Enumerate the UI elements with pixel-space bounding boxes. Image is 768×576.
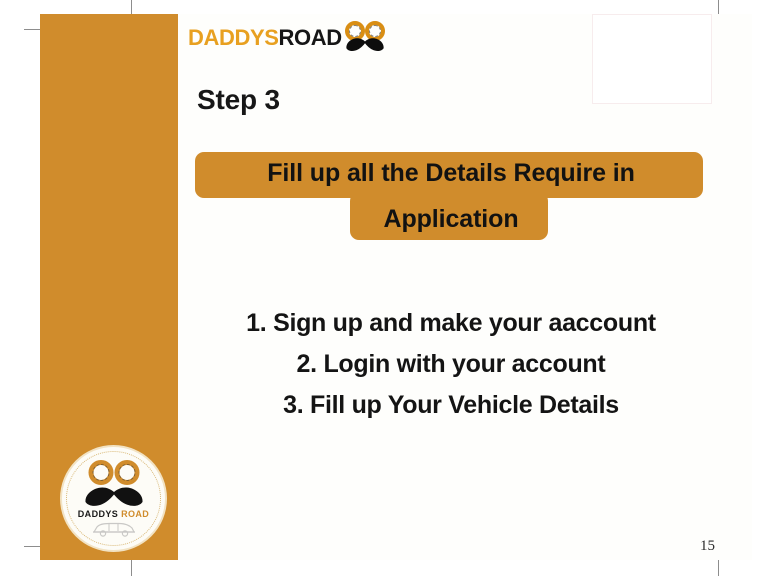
crop-mark-bottom-left-horizontal — [24, 546, 40, 547]
badge-double-ring-icon — [88, 460, 139, 485]
crop-mark-bottom-right-vertical — [718, 560, 719, 576]
header-wordmark: DADDYSROAD — [188, 27, 342, 49]
brand-badge: DADDYS ROAD — [62, 447, 165, 550]
steps-list: 1. Sign up and make your aaccount 2. Log… — [186, 303, 716, 426]
page-number: 15 — [700, 538, 715, 555]
header-wordmark-secondary: ROAD — [279, 25, 342, 50]
headline-text: Fill up all the Details Require in Appli… — [195, 150, 707, 242]
page-title: Step 3 — [197, 86, 280, 114]
header-mustache-icon — [346, 38, 384, 57]
badge-wordmark: DADDYS ROAD — [62, 509, 165, 519]
badge-wordmark-primary: DADDYS — [78, 509, 118, 519]
slide-canvas: DADDYS ROAD DADDYSROAD — [0, 0, 768, 576]
header-wordmark-primary: DADDYS — [188, 25, 279, 50]
badge-wordmark-secondary: ROAD — [121, 509, 149, 519]
image-placeholder-box — [592, 14, 712, 104]
crop-mark-top-left-horizontal — [24, 29, 40, 30]
badge-car-icon — [91, 521, 137, 542]
list-item: 1. Sign up and make your aaccount — [186, 303, 716, 344]
headline-line-1: Fill up all the Details Require in — [195, 150, 707, 196]
list-item: 2. Login with your account — [186, 344, 716, 385]
header-logo-mark — [344, 21, 384, 55]
crop-mark-bottom-left-vertical — [131, 560, 132, 576]
header-logo: DADDYSROAD — [188, 21, 384, 55]
headline-line-2: Application — [195, 196, 707, 242]
list-item: 3. Fill up Your Vehicle Details — [186, 385, 716, 426]
